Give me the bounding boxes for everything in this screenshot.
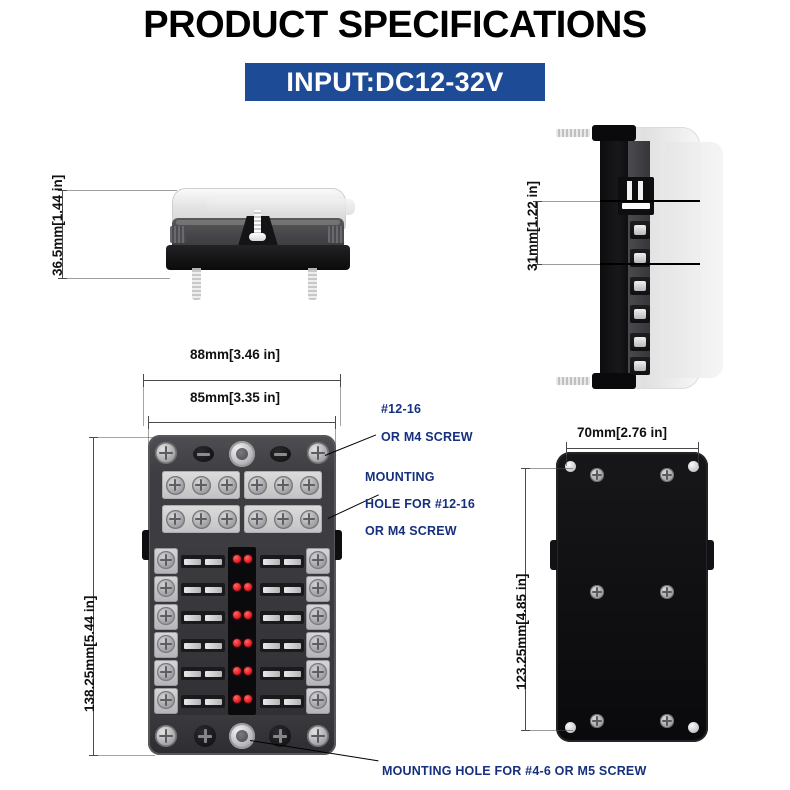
- leader-top-31: [600, 200, 700, 202]
- terminal-block-mid-left: [162, 505, 240, 533]
- terminal-screw: [300, 476, 319, 495]
- fuse-slot: [260, 555, 304, 568]
- terminal-screw: [192, 476, 211, 495]
- dim-ext-left-85: [148, 422, 149, 444]
- side-tab-right: [335, 530, 342, 560]
- dim-line-88: [143, 380, 340, 381]
- leader-bot-31: [600, 263, 700, 265]
- terminal-bar: [622, 203, 650, 209]
- dim-ext-top-123: [525, 468, 573, 469]
- fuse-slot: [260, 611, 304, 624]
- terminal-post-2: [638, 181, 643, 201]
- fuse-slot-area: [154, 547, 330, 715]
- callout-line: #12-16: [381, 402, 473, 416]
- fuse-slot: [181, 695, 225, 708]
- fuse-slot: [181, 555, 225, 568]
- fuse-row: [154, 660, 330, 688]
- negative-stud-left: [193, 446, 214, 462]
- negative-stud-right: [270, 446, 291, 462]
- center-ground-stud-bottom: [229, 723, 255, 749]
- fuse-slot: [260, 667, 304, 680]
- input-voltage-badge: INPUT:DC12-32V: [245, 63, 545, 101]
- mount-screw-left: [192, 268, 201, 300]
- dim-tick-bot-36: [58, 278, 67, 279]
- mount-screw-bottom: [556, 377, 590, 385]
- back-housing: [556, 452, 708, 742]
- terminal-post-1: [627, 181, 632, 201]
- cover-inner-side: [665, 142, 723, 378]
- terminal-screw: [248, 476, 267, 495]
- fuse-slot: [181, 639, 225, 652]
- dim-label-height-terminal: 31mm[1.22 in]: [525, 181, 540, 271]
- dim-label-width-outer: 88mm[3.46 in]: [190, 347, 280, 362]
- dim-label-height-front: 138.25mm[5.44 in]: [82, 596, 97, 712]
- dim-ext-top-138: [93, 437, 155, 438]
- corner-screw-top-right: [307, 442, 329, 464]
- fuse-terminal-1: [630, 221, 650, 239]
- fuse-row-screw-left: [154, 576, 178, 602]
- callout-screw-spec: #12-16 OR M4 SCREW: [381, 402, 473, 444]
- dim-ext-right-85: [335, 422, 336, 444]
- back-screw-top-right: [660, 468, 674, 482]
- fuse-row-screw-left: [154, 660, 178, 686]
- callout-mounting-hole-m4: MOUNTING HOLE FOR #12-16 OR M4 SCREW: [365, 470, 475, 538]
- corner-hole-bottom-right: [688, 722, 699, 733]
- side-notch-left: [170, 226, 186, 243]
- terminal-screw: [218, 476, 237, 495]
- corner-hole-bottom-left: [565, 722, 576, 733]
- center-screw: [251, 210, 264, 244]
- fuse-row-screw-right: [306, 688, 330, 714]
- dim-label-width-inner: 85mm[3.35 in]: [190, 390, 280, 405]
- corner-screw-bottom-right: [307, 725, 329, 747]
- dim-ext-right-70: [698, 448, 699, 466]
- dim-ext-left-70: [566, 448, 567, 466]
- callout-mounting-hole-m5: MOUNTING HOLE FOR #4-6 OR M5 SCREW: [382, 764, 646, 778]
- side-tab-left: [142, 530, 149, 560]
- back-tab-left: [550, 540, 557, 570]
- callout-line: MOUNTING: [365, 470, 475, 484]
- callout-line: OR M4 SCREW: [365, 524, 475, 538]
- fuse-row-screw-right: [306, 604, 330, 630]
- dim-ext-left-88: [143, 380, 144, 426]
- dim-label-height-side: 36.5mm[1.44 in]: [50, 175, 65, 276]
- base-cap-top: [592, 125, 636, 141]
- fuse-row: [154, 576, 330, 604]
- fuse-terminal-6: [630, 357, 650, 375]
- terminal-screw: [166, 476, 185, 495]
- dim-ext-bot-36: [62, 278, 170, 279]
- terminal-block-top-left: [162, 471, 240, 499]
- dim-line-70: [566, 448, 698, 449]
- back-screw-mid-right: [660, 585, 674, 599]
- fuse-row-screw-left: [154, 548, 178, 574]
- fuse-slot: [260, 583, 304, 596]
- corner-screw-top-left: [155, 442, 177, 464]
- fuse-slot: [181, 667, 225, 680]
- dim-label-height-back: 123.25mm[4.85 in]: [514, 574, 529, 690]
- fuse-slot: [181, 583, 225, 596]
- dim-ext-right-88: [340, 380, 341, 426]
- fuse-row-screw-right: [306, 632, 330, 658]
- back-screw-top-left: [590, 468, 604, 482]
- terminal-screw: [248, 510, 267, 529]
- fuse-terminal-4: [630, 305, 650, 323]
- front-view: [148, 435, 336, 755]
- page-title: PRODUCT SPECIFICATIONS: [0, 4, 790, 47]
- mounting-hole-bottom-left: [194, 725, 216, 747]
- fuse-terminal-3: [630, 277, 650, 295]
- back-view: [556, 452, 708, 742]
- dim-label-width-back: 70mm[2.76 in]: [577, 425, 667, 440]
- fuse-row-screw-right: [306, 548, 330, 574]
- terminal-screw: [218, 510, 237, 529]
- fuse-row: [154, 548, 330, 576]
- terminal-screw: [274, 510, 293, 529]
- side-terminal-view: [568, 125, 728, 390]
- fuse-row-screw-left: [154, 688, 178, 714]
- fuse-terminal-5: [630, 333, 650, 351]
- fuse-row: [154, 604, 330, 632]
- fuse-row: [154, 688, 330, 716]
- fuse-slot: [260, 695, 304, 708]
- center-ground-stud: [229, 441, 255, 467]
- terminal-screw: [192, 510, 211, 529]
- callout-line: OR M4 SCREW: [381, 430, 473, 444]
- dim-ext-top-36: [62, 190, 177, 191]
- input-voltage-label: INPUT:DC12-32V: [286, 67, 503, 98]
- terminal-screw: [166, 510, 185, 529]
- corner-screw-bottom-left: [155, 725, 177, 747]
- fuse-slot: [181, 611, 225, 624]
- fuse-row: [154, 632, 330, 660]
- back-screw-mid-left: [590, 585, 604, 599]
- base-cap-bottom: [592, 373, 636, 389]
- mount-screw-right: [308, 268, 317, 300]
- dim-line-85: [148, 422, 335, 423]
- fuse-row-screw-left: [154, 604, 178, 630]
- back-tab-right: [707, 540, 714, 570]
- terminal-screw: [300, 510, 319, 529]
- screw-head: [249, 233, 266, 241]
- main-terminal: [618, 177, 654, 215]
- base-plate: [166, 245, 350, 270]
- dim-ext-bot-123: [525, 730, 573, 731]
- fuse-row-screw-right: [306, 660, 330, 686]
- terminal-screw: [274, 476, 293, 495]
- terminal-block-top-right: [244, 471, 322, 499]
- fuse-row-screw-left: [154, 632, 178, 658]
- callout-line: HOLE FOR #12-16: [365, 497, 475, 511]
- back-screw-bottom-right: [660, 714, 674, 728]
- side-notch-right: [328, 226, 344, 243]
- side-height-view: [150, 188, 365, 288]
- fuse-row-screw-right: [306, 576, 330, 602]
- cover-inner-ridge: [207, 199, 355, 215]
- fuse-slot: [260, 639, 304, 652]
- mount-screw-top: [556, 129, 590, 137]
- back-screw-bottom-left: [590, 714, 604, 728]
- terminal-block-mid-right: [244, 505, 322, 533]
- dim-ext-bot-138: [93, 755, 155, 756]
